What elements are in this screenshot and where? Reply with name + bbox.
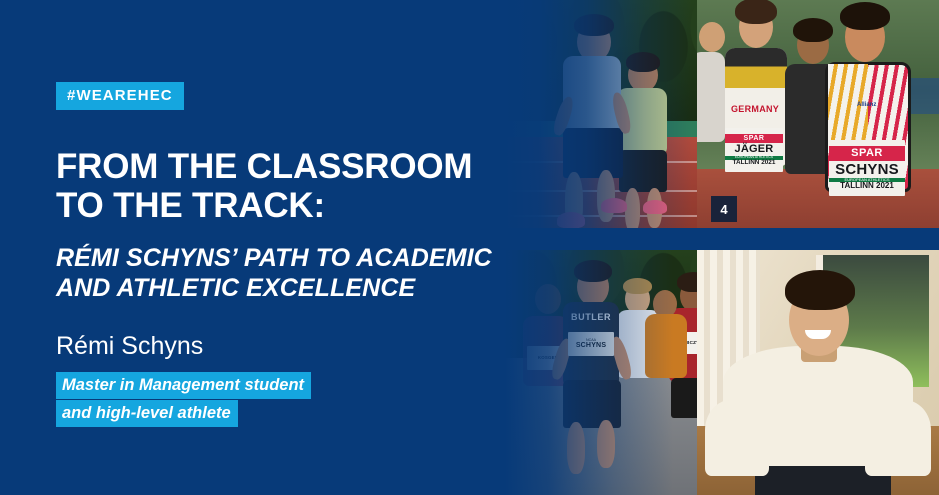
author-name: Rémi Schyns	[56, 333, 203, 361]
bib-jager: SPAR JÄGER EUROPEAN ATHLETICS TALLINN 20…	[725, 128, 783, 172]
wearehec-hashtag-badge: #WEAREHEC	[56, 82, 184, 110]
page-subtitle: RÉMI SCHYNS’ PATH TO ACADEMIC AND ATHLET…	[56, 243, 506, 303]
author-role-line-2: and high-level athlete	[56, 400, 238, 427]
photo-mosaic: KOBCZYNSKI KOSGEI	[440, 0, 939, 495]
hec-article-banner: KOBCZYNSKI KOSGEI	[0, 0, 939, 495]
portrait-scene	[697, 250, 939, 495]
bib-schyns: SPAR SCHYNS EUROPEAN ATHLETICS TALLINN 2…	[829, 140, 905, 196]
subtitle-line-1: RÉMI SCHYNS’ PATH TO ACADEMIC	[56, 243, 506, 273]
lane-number-placard: 4	[711, 196, 737, 222]
title-line-1: FROM THE CLASSROOM	[56, 148, 506, 187]
championship-race-photo: GERMANY SPAR JÄGER EUROPEAN ATHLETICS TA…	[697, 0, 939, 228]
championship-scene: GERMANY SPAR JÄGER EUROPEAN ATHLETICS TA…	[697, 0, 939, 228]
author-role: Master in Management student and high-le…	[56, 372, 386, 428]
student-portrait-photo	[697, 250, 939, 495]
subtitle-line-2: AND ATHLETIC EXCELLENCE	[56, 273, 506, 303]
title-line-2: TO THE TRACK:	[56, 187, 506, 226]
author-role-line-1: Master in Management student	[56, 372, 311, 399]
page-title: FROM THE CLASSROOM TO THE TRACK:	[56, 148, 506, 226]
